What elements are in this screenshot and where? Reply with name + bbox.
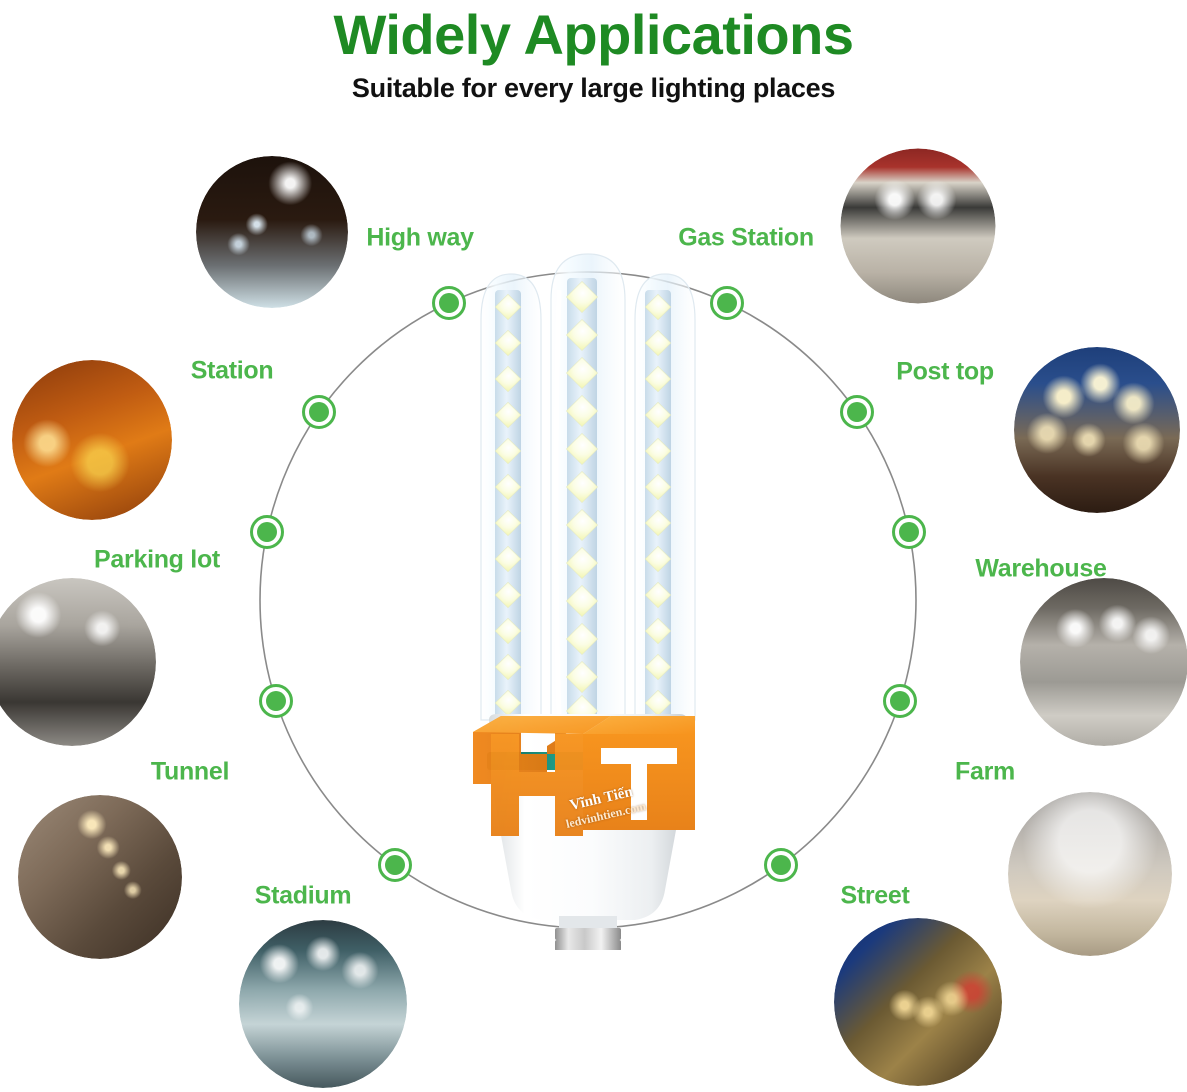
node-dot-icon bbox=[890, 691, 910, 711]
application-label-tunnel: Tunnel bbox=[151, 758, 229, 787]
application-label-stadium: Stadium bbox=[255, 882, 352, 911]
node-dot-icon bbox=[847, 402, 867, 422]
node-dot-icon bbox=[266, 691, 286, 711]
node-dot-icon bbox=[439, 293, 459, 313]
node-dot-icon bbox=[899, 522, 919, 542]
orbit-node-warehouse[interactable] bbox=[892, 515, 926, 549]
application-label-gas-station: Gas Station bbox=[678, 224, 814, 253]
lamp-post-array-image bbox=[1014, 347, 1180, 513]
application-label-street: Street bbox=[840, 882, 909, 911]
application-label-high-way: High way bbox=[366, 224, 473, 253]
orbit-node-street[interactable] bbox=[764, 848, 798, 882]
poster-canvas: Widely Applications Suitable for every l… bbox=[0, 0, 1187, 1092]
led-bulb-illustration bbox=[463, 250, 713, 950]
application-photo-stadium bbox=[239, 920, 407, 1088]
application-photo-tunnel bbox=[18, 795, 182, 959]
application-label-station: Station bbox=[191, 357, 274, 386]
application-photo-warehouse bbox=[1020, 578, 1187, 746]
application-label-farm: Farm bbox=[955, 758, 1015, 787]
orbit-node-stadium[interactable] bbox=[378, 848, 412, 882]
orbit-node-parking-lot[interactable] bbox=[250, 515, 284, 549]
node-dot-icon bbox=[309, 402, 329, 422]
road-tunnel-image bbox=[18, 795, 182, 959]
application-photo-gas-station bbox=[841, 149, 996, 304]
orbit-node-station[interactable] bbox=[302, 395, 336, 429]
warehouse-interior-image bbox=[1020, 578, 1187, 746]
application-label-warehouse: Warehouse bbox=[975, 555, 1106, 584]
node-dot-icon bbox=[257, 522, 277, 542]
node-dot-icon bbox=[717, 293, 737, 313]
metro-station-entrance-image bbox=[12, 360, 172, 520]
orbit-node-farm[interactable] bbox=[883, 684, 917, 718]
application-photo-post-top bbox=[1014, 347, 1180, 513]
night-street-scene-image bbox=[834, 918, 1002, 1086]
orbit-node-tunnel[interactable] bbox=[259, 684, 293, 718]
poultry-farm-interior-image bbox=[1008, 792, 1172, 956]
application-photo-street bbox=[834, 918, 1002, 1086]
application-photo-station bbox=[12, 360, 172, 520]
orbit-node-post-top[interactable] bbox=[840, 395, 874, 429]
gas-station-canopy-image bbox=[841, 149, 996, 304]
application-label-post-top: Post top bbox=[896, 358, 994, 387]
highway-at-night-image bbox=[196, 156, 348, 308]
application-label-parking-lot: Parking lot bbox=[94, 546, 220, 575]
application-photo-farm bbox=[1008, 792, 1172, 956]
stadium-lighting-image bbox=[239, 920, 407, 1088]
orbit-node-high-way[interactable] bbox=[432, 286, 466, 320]
orbit-node-gas-station[interactable] bbox=[710, 286, 744, 320]
application-photo-high-way bbox=[196, 156, 348, 308]
node-dot-icon bbox=[385, 855, 405, 875]
node-dot-icon bbox=[771, 855, 791, 875]
